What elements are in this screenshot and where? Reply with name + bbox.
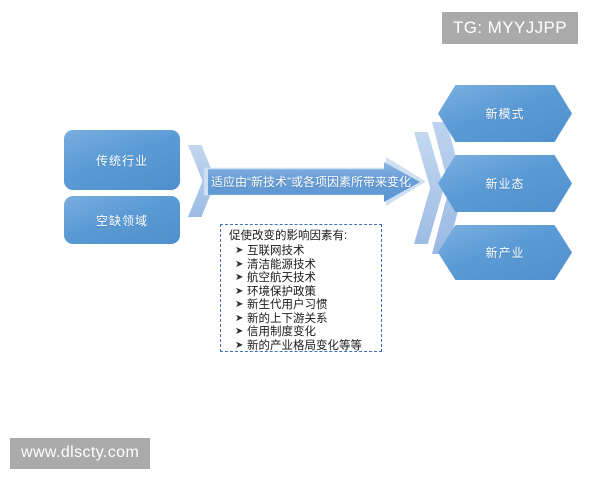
list-item-label: 新生代用户习惯 xyxy=(247,299,328,313)
list-item: ➤ 新生代用户习惯 xyxy=(235,299,375,313)
list-item-label: 清洁能源技术 xyxy=(247,259,316,273)
list-item: ➤ 互联网技术 xyxy=(235,245,375,259)
telegram-watermark-badge: TG: MYYJJPP xyxy=(442,12,578,44)
bullet-arrow-icon: ➤ xyxy=(235,244,247,258)
bullet-arrow-icon: ➤ xyxy=(235,258,247,272)
bullet-arrow-icon: ➤ xyxy=(235,298,247,312)
list-item-label: 互联网技术 xyxy=(247,245,305,259)
site-watermark-badge: www.dlscty.com xyxy=(10,438,150,469)
list-item-label: 新的产业格局变化等等 xyxy=(247,340,362,354)
output-hexagon-new-model: 新模式 xyxy=(438,85,572,142)
bullet-arrow-icon: ➤ xyxy=(235,271,247,285)
list-item: ➤ 信用制度变化 xyxy=(235,326,375,340)
bullet-arrow-icon: ➤ xyxy=(235,339,247,353)
factors-callout: 促使改变的影响因素有: ➤ 互联网技术 ➤ 清洁能源技术 ➤ 航空航天技术 ➤ … xyxy=(220,224,382,352)
output-hexagon-new-industry: 新产业 xyxy=(438,225,572,280)
input-box-vacant-field: 空缺领域 xyxy=(64,196,180,244)
list-item: ➤ 新的产业格局变化等等 xyxy=(235,340,375,354)
output-hexagon-new-format: 新业态 xyxy=(438,155,572,212)
bullet-arrow-icon: ➤ xyxy=(235,325,247,339)
bullet-arrow-icon: ➤ xyxy=(235,312,247,326)
list-item: ➤ 清洁能源技术 xyxy=(235,259,375,273)
output-hexagon-new-model-label: 新模式 xyxy=(485,105,524,122)
list-item-label: 信用制度变化 xyxy=(247,326,316,340)
banner-label: 适应由“新技术”或各项因素所带来变化 xyxy=(210,169,412,195)
bullet-arrow-icon: ➤ xyxy=(235,285,247,299)
list-item: ➤ 环境保护政策 xyxy=(235,286,375,300)
list-item-label: 新的上下游关系 xyxy=(247,313,328,327)
output-hexagon-new-format-label: 新业态 xyxy=(485,175,524,192)
list-item: ➤ 航空航天技术 xyxy=(235,272,375,286)
input-box-traditional-industry: 传统行业 xyxy=(64,130,180,190)
list-item: ➤ 新的上下游关系 xyxy=(235,313,375,327)
diagram-canvas: TG: MYYJJPP 传统行业 空缺领域 适应由“新技术”或各项因素所带来变化… xyxy=(0,0,600,480)
list-item-label: 航空航天技术 xyxy=(247,272,316,286)
input-box-traditional-industry-label: 传统行业 xyxy=(96,152,148,169)
output-hexagon-new-industry-label: 新产业 xyxy=(485,244,524,261)
factors-callout-title: 促使改变的影响因素有: xyxy=(229,229,375,244)
factors-list: ➤ 互联网技术 ➤ 清洁能源技术 ➤ 航空航天技术 ➤ 环境保护政策 ➤ 新生代… xyxy=(229,245,375,353)
list-item-label: 环境保护政策 xyxy=(247,286,316,300)
input-box-vacant-field-label: 空缺领域 xyxy=(96,212,148,229)
